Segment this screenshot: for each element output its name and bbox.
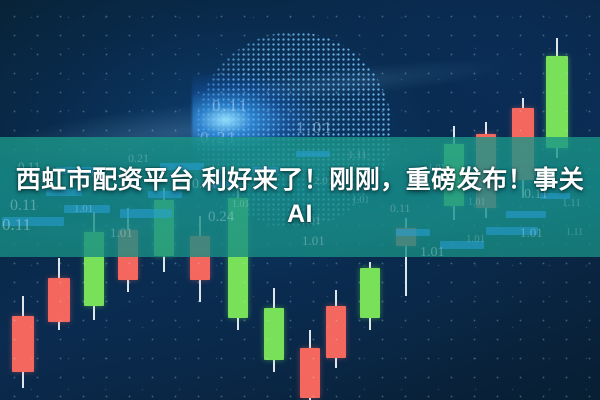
band-number-15: 1.11 [348,149,367,161]
band-number-14: 1.01 [302,233,325,249]
headline-line-2: AI [0,197,600,231]
band-number-27: 1.01 [420,245,445,257]
headline-line-1: 西虹市配资平台 利好来了！刚刚，重磅发布！事关 [0,163,600,197]
band-number-26: 1.01 [466,233,485,245]
headline-text: 西虹市配资平台 利好来了！刚刚，重磅发布！事关 AI [0,163,600,231]
cover-image: 0.110.211.01 0.111.010.110.111.011.011.0… [0,0,600,400]
